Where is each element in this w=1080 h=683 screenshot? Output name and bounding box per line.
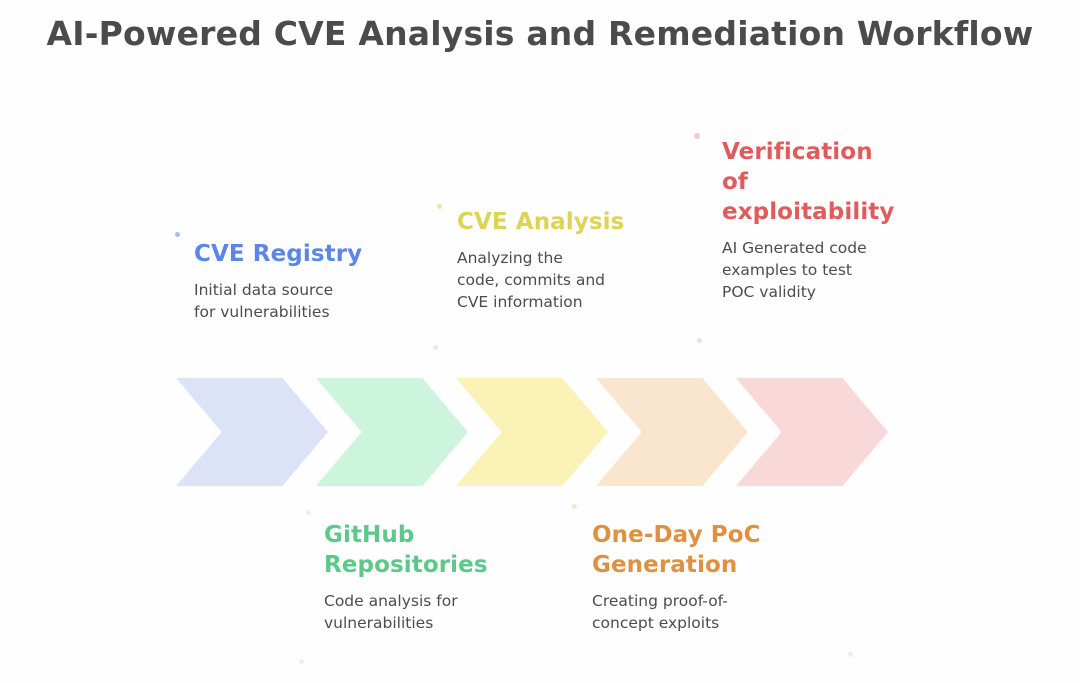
step-heading-4: One-Day PoC Generation <box>592 521 807 581</box>
step-heading-3: CVE Analysis <box>457 208 672 238</box>
step-description-1: Initial data source for vulnerabilities <box>194 279 409 323</box>
sparkle-green-3-icon <box>299 659 304 664</box>
sparkle-orange-2-icon <box>848 652 853 657</box>
sparkle-green-icon <box>433 345 438 350</box>
sparkle-blue-icon <box>175 232 180 237</box>
step-label-3[interactable]: CVE Analysis Analyzing the code, commits… <box>457 208 672 313</box>
step-label-5[interactable]: Verification of exploitability AI Genera… <box>722 138 937 303</box>
step-description-3: Analyzing the code, commits and CVE info… <box>457 247 672 313</box>
chevron-step-1[interactable] <box>176 378 328 486</box>
step-description-5: AI Generated code examples to test POC v… <box>722 237 937 303</box>
chevron-step-2[interactable] <box>316 378 468 486</box>
page-title: AI-Powered CVE Analysis and Remediation … <box>0 14 1080 53</box>
step-description-4: Creating proof-of- concept exploits <box>592 590 807 634</box>
chevron-step-3[interactable] <box>456 378 608 486</box>
step-label-2[interactable]: GitHub Repositories Code analysis for vu… <box>324 521 539 634</box>
step-label-1[interactable]: CVE Registry Initial data source for vul… <box>194 240 409 323</box>
sparkle-orange-icon <box>572 504 577 509</box>
sparkle-red-icon <box>694 133 700 139</box>
step-label-4[interactable]: One-Day PoC Generation Creating proof-of… <box>592 521 807 634</box>
chevron-step-5[interactable] <box>736 378 888 486</box>
sparkle-green-2-icon <box>306 510 311 515</box>
diagram-canvas: AI-Powered CVE Analysis and Remediation … <box>0 0 1080 683</box>
sparkle-red-2-icon <box>697 338 702 343</box>
step-heading-1: CVE Registry <box>194 240 409 270</box>
chevron-step-4[interactable] <box>596 378 748 486</box>
step-heading-5: Verification of exploitability <box>722 138 937 228</box>
chevron-flow-band <box>176 378 888 486</box>
step-description-2: Code analysis for vulnerabilities <box>324 590 539 634</box>
sparkle-yellow-icon <box>437 204 442 209</box>
step-heading-2: GitHub Repositories <box>324 521 539 581</box>
